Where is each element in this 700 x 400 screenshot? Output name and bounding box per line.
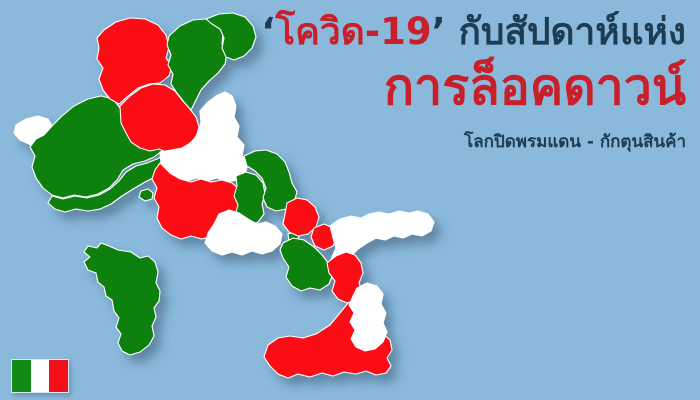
subtitle: โลกปิดพรมแดน - กักตุนสินค้า bbox=[216, 131, 686, 153]
headline-block: ‘โควิด-19’ กับสัปดาห์แห่ง การล็อคดาวน์ โ… bbox=[216, 8, 686, 153]
flag-stripe-green bbox=[12, 360, 31, 392]
italy-flag-icon bbox=[11, 359, 69, 393]
map-region-sardegna bbox=[84, 243, 160, 355]
flag-stripe-white bbox=[31, 360, 50, 392]
quote-close: ’ bbox=[432, 10, 446, 53]
poster-canvas: ‘โควิด-19’ กับสัปดาห์แห่ง การล็อคดาวน์ โ… bbox=[0, 0, 700, 400]
headline-line-1-rest: กับสัปดาห์แห่ง bbox=[446, 10, 686, 53]
headline-line-2: การล็อคดาวน์ bbox=[216, 57, 686, 117]
headline-line-1: ‘โควิด-19’ กับสัปดาห์แห่ง bbox=[216, 8, 686, 55]
map-region-calabria bbox=[349, 283, 387, 351]
map-region-elba bbox=[139, 189, 153, 201]
flag-stripe-red bbox=[49, 360, 68, 392]
quote-open: ‘ bbox=[261, 10, 275, 53]
covid-term: โควิด-19 bbox=[275, 10, 431, 53]
